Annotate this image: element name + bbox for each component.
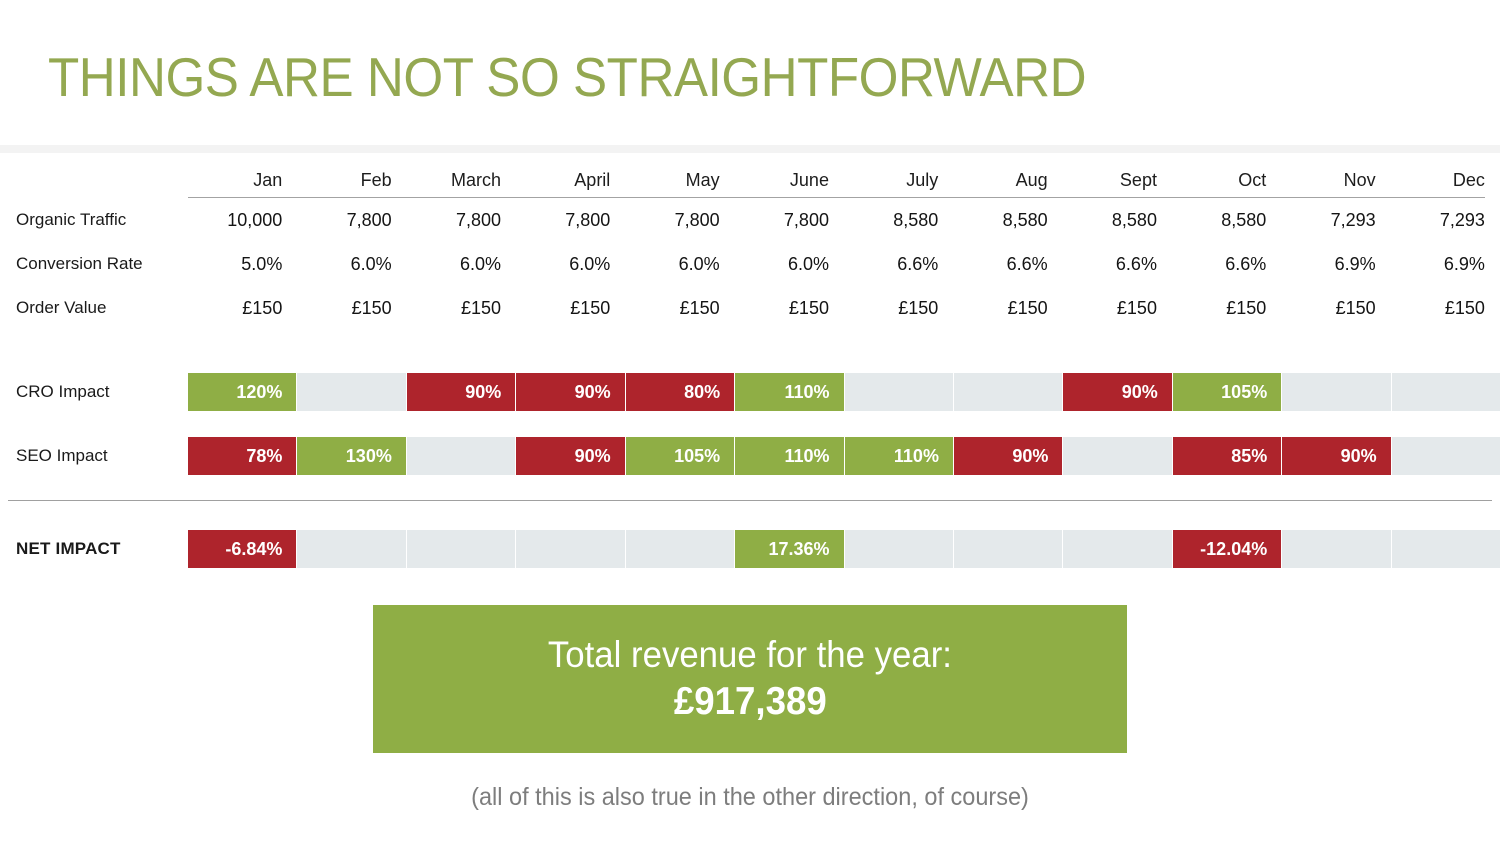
bar-segment [1282,530,1391,568]
bar-segment: 90% [407,373,516,411]
table-cell: £150 [735,298,844,319]
month-header-sept: Sept [1063,170,1172,191]
month-header-oct: Oct [1172,170,1281,191]
table-cell: £150 [1063,298,1172,319]
table-cell: £150 [953,298,1062,319]
bar-segment: 80% [626,373,735,411]
bar-segment: 120% [188,373,297,411]
bar-segment [407,437,516,475]
total-revenue-box: Total revenue for the year: £917,389 [373,605,1127,753]
total-revenue-label: Total revenue for the year: [548,632,952,678]
row-label: CRO Impact [0,382,188,402]
table-cell: £150 [407,298,516,319]
bar-segment [1282,373,1391,411]
impact-bar-row: NET IMPACT-6.84%17.36%-12.04% [0,517,1500,581]
bar-segment: 17.36% [735,530,844,568]
row-label: Order Value [0,298,188,318]
bar-segment: 110% [845,437,954,475]
month-header-april: April [516,170,625,191]
month-header-aug: Aug [953,170,1062,191]
month-header-may: May [625,170,734,191]
table-cell: 6.6% [953,254,1062,275]
month-header-july: July [844,170,953,191]
month-header-jan: Jan [188,170,297,191]
bar-segment [1392,373,1500,411]
bar-segment [845,373,954,411]
impact-table: JanFebMarchAprilMayJuneJulyAugSeptOctNov… [0,163,1500,581]
bar-segment [954,530,1063,568]
footnote-text: (all of this is also true in the other d… [45,783,1455,812]
table-header-row: JanFebMarchAprilMayJuneJulyAugSeptOctNov… [0,163,1500,197]
bar-section-spacer [0,330,1500,360]
table-cell: 7,800 [735,210,844,231]
impact-bar-row: CRO Impact120%90%90%80%110%90%105% [0,360,1500,424]
row-cells: 10,0007,8007,8007,8007,8007,8008,5808,58… [188,210,1500,231]
table-cell: £150 [625,298,734,319]
table-cell: £150 [297,298,406,319]
table-cell: 8,580 [953,210,1062,231]
bar-segment: 90% [954,437,1063,475]
table-cell: 6.0% [625,254,734,275]
month-header-june: June [735,170,844,191]
table-cell: £150 [1172,298,1281,319]
table-cell: 7,800 [625,210,734,231]
table-cell: £150 [188,298,297,319]
table-cell: 6.9% [1281,254,1390,275]
bar-segment [516,530,625,568]
bar-segment: 90% [1063,373,1172,411]
month-header-cells: JanFebMarchAprilMayJuneJulyAugSeptOctNov… [188,170,1500,191]
table-cell: 8,580 [844,210,953,231]
bar-segment [407,530,516,568]
table-cell: 7,800 [297,210,406,231]
bar-track: 120%90%90%80%110%90%105% [188,373,1500,411]
bar-segment: 85% [1173,437,1282,475]
table-cell: £150 [844,298,953,319]
table-row: Organic Traffic10,0007,8007,8007,8007,80… [0,198,1500,242]
table-cell: 6.0% [297,254,406,275]
bar-segment: 110% [735,437,844,475]
row-label: NET IMPACT [0,539,188,559]
bar-segment: 90% [516,373,625,411]
bar-segment [626,530,735,568]
table-row: Order Value£150£150£150£150£150£150£150£… [0,286,1500,330]
bar-segment [954,373,1063,411]
bar-track: -6.84%17.36%-12.04% [188,530,1500,568]
row-label: SEO Impact [0,446,188,466]
bar-segment [1063,437,1172,475]
table-cell: 10,000 [188,210,297,231]
bar-segment [845,530,954,568]
bar-segment [1392,530,1500,568]
month-header-feb: Feb [297,170,406,191]
table-cell: 6.0% [407,254,516,275]
table-cell: 7,800 [516,210,625,231]
month-header-nov: Nov [1281,170,1390,191]
row-cells: 5.0%6.0%6.0%6.0%6.0%6.0%6.6%6.6%6.6%6.6%… [188,254,1500,275]
bar-segment: 110% [735,373,844,411]
table-cell: £150 [1391,298,1500,319]
row-label: Organic Traffic [0,210,188,230]
table-cell: 7,293 [1391,210,1500,231]
table-cell: £150 [516,298,625,319]
bar-segment [1392,437,1500,475]
data-rows-group: Organic Traffic10,0007,8007,8007,8007,80… [0,198,1500,330]
table-cell: £150 [1281,298,1390,319]
page-title: THINGS ARE NOT SO STRAIGHTFORWARD [48,44,1086,110]
table-cell: 7,293 [1281,210,1390,231]
bar-segment [297,373,406,411]
month-header-march: March [407,170,516,191]
table-cell: 5.0% [188,254,297,275]
bar-segment: -12.04% [1173,530,1282,568]
row-cells: £150£150£150£150£150£150£150£150£150£150… [188,298,1500,319]
header-rule [188,197,1485,198]
bar-track: 78%130%90%105%110%110%90%85%90% [188,437,1500,475]
slide-root: THINGS ARE NOT SO STRAIGHTFORWARD JanFeb… [0,0,1500,843]
table-cell: 6.0% [516,254,625,275]
bar-rows-group: CRO Impact120%90%90%80%110%90%105%SEO Im… [0,360,1500,488]
bar-segment: -6.84% [188,530,297,568]
header-divider-band [0,145,1500,153]
month-header-dec: Dec [1391,170,1500,191]
bar-segment: 78% [188,437,297,475]
impact-bar-row: SEO Impact78%130%90%105%110%110%90%85%90… [0,424,1500,488]
table-cell: 6.6% [1063,254,1172,275]
table-cell: 6.9% [1391,254,1500,275]
total-revenue-value: £917,389 [674,678,827,726]
row-label: Conversion Rate [0,254,188,274]
bar-segment: 90% [1282,437,1391,475]
net-impact-row-group: NET IMPACT-6.84%17.36%-12.04% [0,517,1500,581]
table-cell: 8,580 [1063,210,1172,231]
table-cell: 7,800 [407,210,516,231]
table-cell: 8,580 [1172,210,1281,231]
bar-segment: 105% [1173,373,1282,411]
table-row: Conversion Rate5.0%6.0%6.0%6.0%6.0%6.0%6… [0,242,1500,286]
net-impact-divider [8,500,1492,501]
bar-segment [1063,530,1172,568]
bar-segment: 105% [626,437,735,475]
bar-segment [297,530,406,568]
bar-segment: 130% [297,437,406,475]
table-cell: 6.6% [844,254,953,275]
bar-segment: 90% [516,437,625,475]
table-cell: 6.0% [735,254,844,275]
table-cell: 6.6% [1172,254,1281,275]
